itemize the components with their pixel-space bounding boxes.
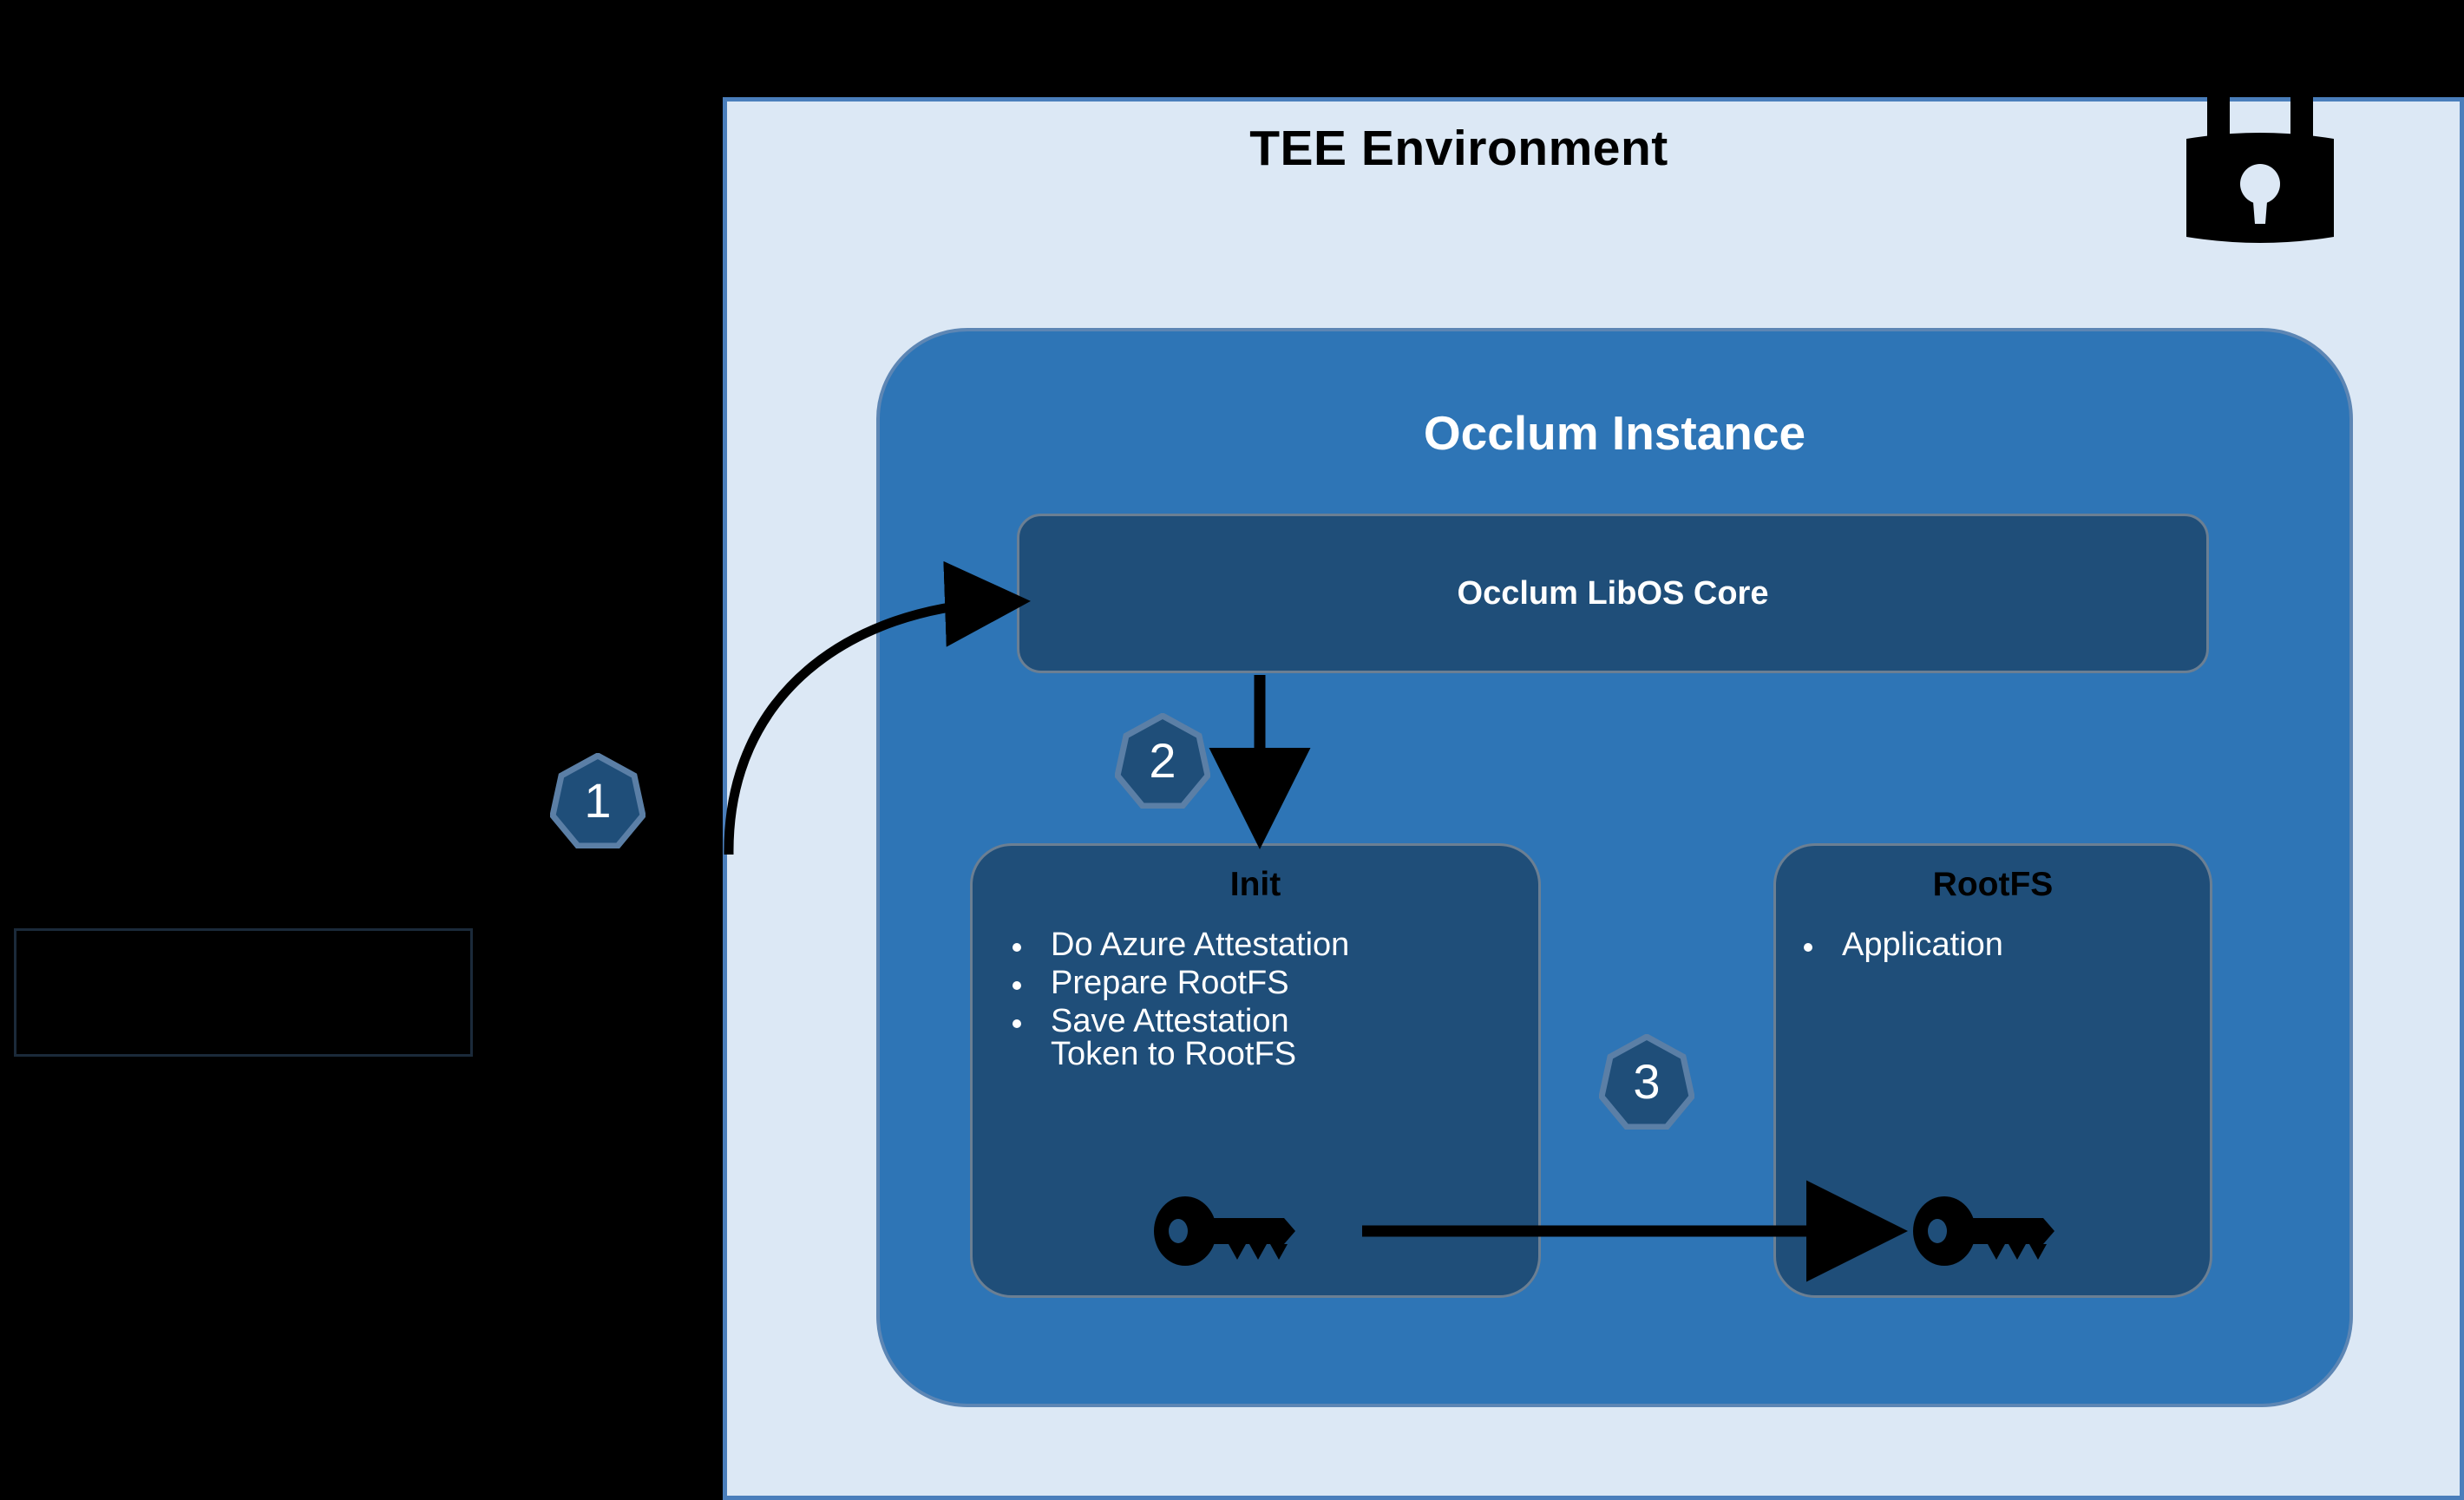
tee-environment-title-text: TEE Environment — [1249, 120, 1668, 177]
init-bullet-list: Do Azure Attestation Prepare RootFS Save… — [1000, 928, 1521, 1076]
occlum-instance-title: Occlum Instance — [880, 405, 2349, 461]
left-outline-rect — [14, 928, 473, 1057]
bullet-dot-icon — [1804, 943, 1812, 952]
bullet-dot-icon — [1012, 1019, 1021, 1028]
list-item: Save Attestation — [1000, 1005, 1521, 1038]
list-item: Application — [1792, 928, 2199, 961]
list-item: Do Azure Attestation — [1000, 928, 1521, 961]
step-badge-2-number: 2 — [1115, 713, 1210, 809]
step-badge-1: 1 — [550, 753, 645, 848]
list-item-continuation: Token to RootFS — [1000, 1038, 1521, 1071]
diagram-canvas: TEE Environment Occlum Instance Occlum L… — [0, 0, 2464, 1500]
list-item: Prepare RootFS — [1000, 966, 1521, 999]
rootfs-bullet-list: Application — [1792, 928, 2199, 966]
step-badge-3-number: 3 — [1599, 1034, 1694, 1130]
step-badge-2: 2 — [1115, 713, 1210, 809]
bullet-dot-icon — [1012, 943, 1021, 952]
step-badge-3: 3 — [1599, 1034, 1694, 1130]
lock-icon — [2169, 52, 2351, 252]
occlum-libos-core-box: Occlum LibOS Core — [1017, 514, 2209, 673]
step-badge-1-number: 1 — [550, 753, 645, 848]
rootfs-bullet-1: Application — [1842, 928, 2199, 961]
init-title: Init — [973, 866, 1538, 904]
init-bullet-2: Prepare RootFS — [1051, 966, 1521, 999]
key-icon — [1154, 1195, 1301, 1267]
init-bullet-3: Save Attestation — [1051, 1005, 1521, 1038]
rootfs-title: RootFS — [1776, 866, 2210, 904]
occlum-libos-core-label: Occlum LibOS Core — [1458, 575, 1769, 612]
bullet-dot-icon — [1012, 981, 1021, 990]
init-bullet-3-wrap: Token to RootFS — [1051, 1038, 1521, 1071]
init-bullet-1: Do Azure Attestation — [1051, 928, 1521, 961]
key-icon — [1913, 1195, 2061, 1267]
